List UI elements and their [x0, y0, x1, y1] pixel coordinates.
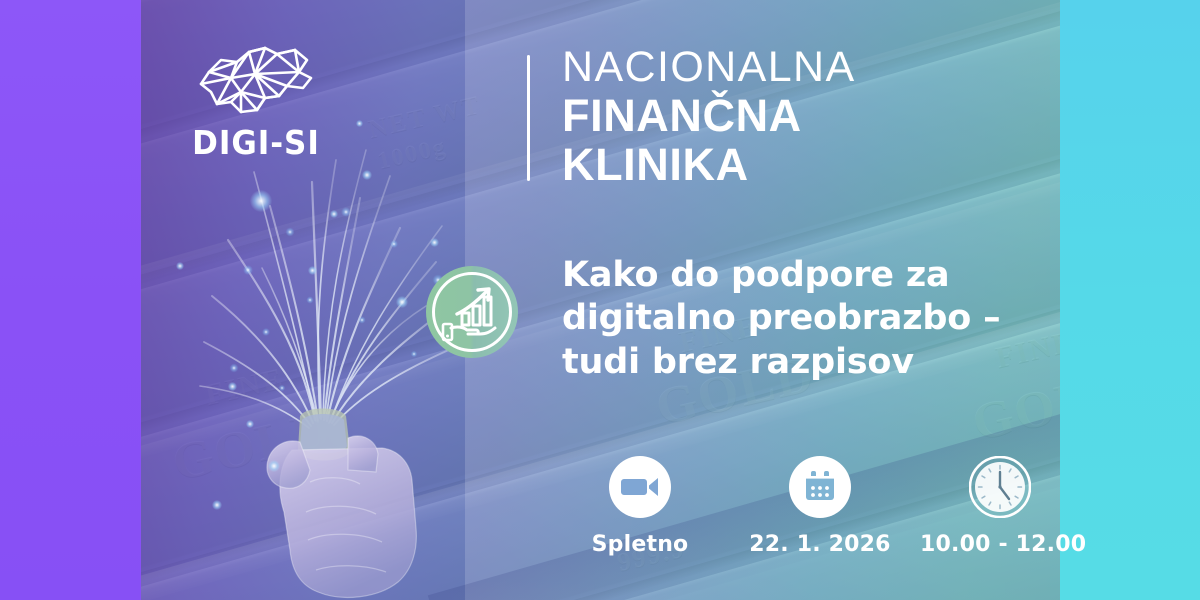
brand-wordmark: DIGI-SI — [190, 126, 322, 159]
content-layer: DIGI-SI NACIONALNA FINANČNA KLINIKA — [0, 0, 1200, 600]
headline-line-1: Kako do podpore za — [562, 254, 1032, 297]
event-title: NACIONALNA FINANČNA KLINIKA — [562, 46, 856, 188]
title-line-klinika: KLINIKA — [562, 142, 856, 188]
info-item-time: 10.00 - 12.00 — [920, 456, 1080, 557]
title-line-financna: FINANČNA — [562, 93, 856, 139]
title-divider — [527, 55, 530, 181]
video-camera-icon — [609, 456, 671, 518]
event-info-row: Spletno — [560, 456, 1080, 557]
hand-holding-growth-chart-icon — [424, 264, 520, 360]
headline-line-2: digitalno preobrazbo – — [562, 297, 1032, 340]
info-item-format: Spletno — [560, 456, 720, 557]
title-line-nacionalna: NACIONALNA — [562, 46, 856, 90]
slovenia-polygon-mesh-icon — [191, 38, 321, 120]
promo-banner: NET WT 1000g NET WT 1000g 999.9 FINE GOL… — [0, 0, 1200, 600]
headline-line-3: tudi brez razpisov — [562, 341, 1032, 384]
clock-icon — [969, 456, 1031, 518]
info-label-format: Spletno — [560, 532, 720, 557]
calendar-icon — [789, 456, 851, 518]
headline: Kako do podpore za digitalno preobrazbo … — [562, 254, 1032, 384]
brand-logo[interactable]: DIGI-SI — [186, 38, 326, 159]
info-label-time: 10.00 - 12.00 — [920, 532, 1080, 557]
info-label-date: 22. 1. 2026 — [740, 532, 900, 557]
info-item-date: 22. 1. 2026 — [740, 456, 900, 557]
